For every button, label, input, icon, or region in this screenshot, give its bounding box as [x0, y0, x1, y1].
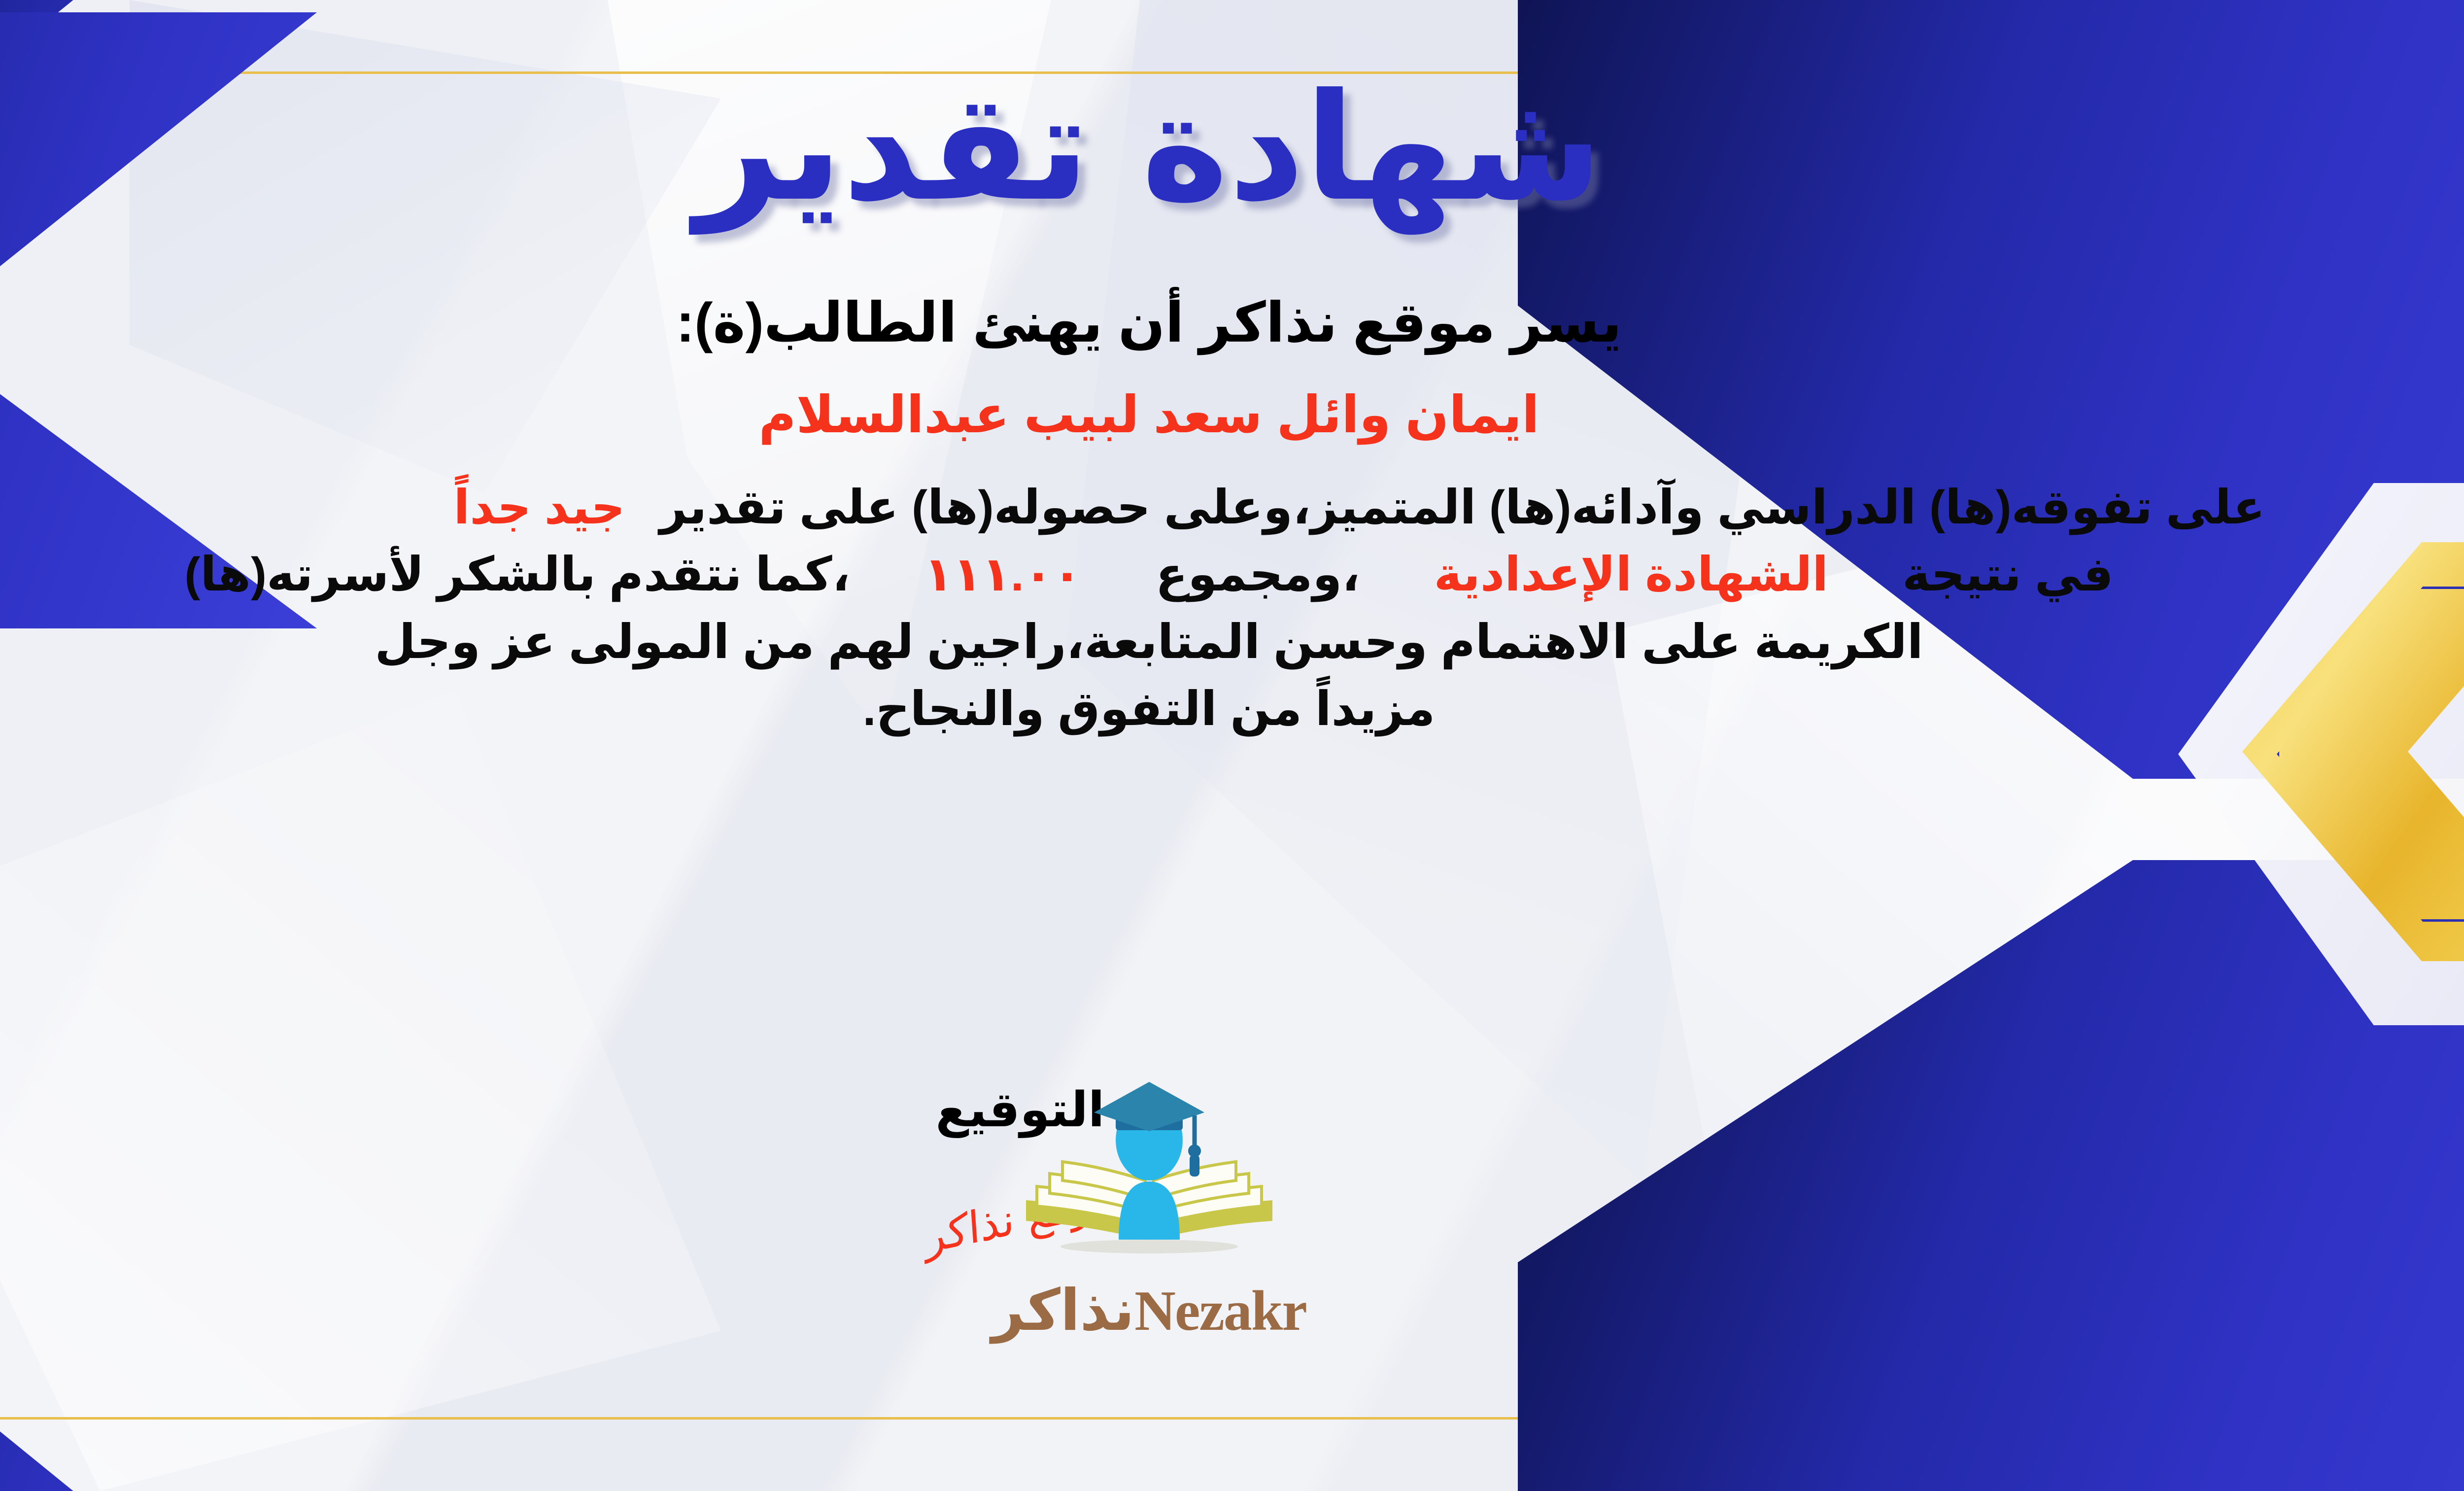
body-paragraph: على تفوقه(ها) الدراسي وآدائه(ها) المتميز…	[0, 474, 2344, 743]
certificate-page: شهادة تقدير يسر موقع نذاكر أن يهنئ الطال…	[0, 0, 2464, 1491]
body-line-2-prefix: في نتيجة	[1902, 548, 2113, 601]
body-line-2-mid: ،ومجموع	[1156, 548, 1360, 601]
intro-sentence: يسر موقع نذاكر أن يهنئ الطالب(ة):	[676, 291, 1622, 355]
body-line-1-text: على تفوقه(ها) الدراسي وآدائه(ها) المتميز…	[659, 481, 2265, 534]
total-score: ١١١.٠٠	[924, 548, 1082, 601]
student-name: ايمان وائل سعد لبيب عبدالسلام	[758, 384, 1539, 445]
grade-value: جيد جداً	[453, 481, 625, 534]
body-line-4: مزيداً من التفوق والنجاح.	[0, 676, 2344, 743]
body-line-1: على تفوقه(ها) الدراسي وآدائه(ها) المتميز…	[0, 474, 2344, 541]
body-line-2-suffix: ،كما نتقدم بالشكر لأسرته(ها)	[184, 548, 850, 601]
certificate-type: الشهادة الإعدادية	[1434, 548, 1829, 601]
certificate-content: شهادة تقدير يسر موقع نذاكر أن يهنئ الطال…	[0, 0, 2464, 1491]
body-line-2: في نتيجةالشهادة الإعدادية،ومجموع١١١.٠٠،ك…	[0, 541, 2344, 608]
certificate-title: شهادة تقدير	[695, 74, 1603, 222]
body-line-3: الكريمة على الاهتمام وحسن المتابعة،راجين…	[0, 609, 2344, 676]
